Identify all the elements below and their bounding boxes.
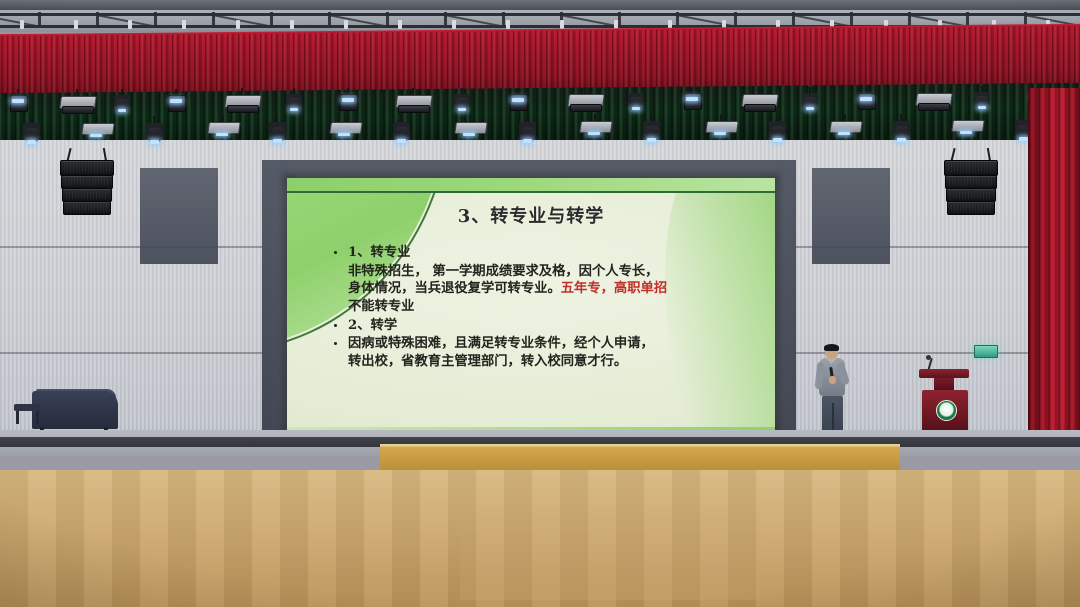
ceiling-slab <box>0 0 1080 10</box>
slide-text: 不能转专业 <box>348 299 414 314</box>
slide-bullet-line: 身体情况，当兵退役复学可转专业。五年专，高职单招 <box>348 280 757 298</box>
projection-screen: 3、转专业与转学 1、转专业非特殊招生， 第一学期成绩要求及格，因个人专长，身体… <box>287 178 775 436</box>
slide-text: 转出校，省教育主管理部门，转入校同意才行。 <box>348 354 627 369</box>
slide-content: 3、转专业与转学 1、转专业非特殊招生， 第一学期成绩要求及格，因个人专长，身体… <box>287 178 775 436</box>
slide-bullet-line: 不能转专业 <box>348 298 757 316</box>
slide-bullet-line: 1、转专业 <box>348 244 757 262</box>
line-array-loudspeaker-right <box>944 160 1002 222</box>
slide-text: 2、转学 <box>348 318 397 333</box>
line-array-loudspeaker-left <box>60 160 118 222</box>
slide-text: 非特殊招生， 第一学期成绩要求及格，因个人专长， <box>348 264 658 279</box>
side-red-curtain <box>1028 88 1080 448</box>
slide-text: 1、转专业 <box>348 245 410 260</box>
slide-bullet-list: 1、转专业非特殊招生， 第一学期成绩要求及格，因个人专长，身体情况，当兵退役复学… <box>331 244 757 372</box>
presenter-hand <box>829 376 836 384</box>
podium-microphone-head <box>926 355 931 360</box>
emergency-exit-sign <box>974 345 998 358</box>
slide-bullet-line: 转出校，省教育主管理部门，转入校同意才行。 <box>348 353 757 371</box>
slide-bullet: 2、转学 <box>331 317 757 335</box>
slide-title: 3、转专业与转学 <box>287 202 775 228</box>
wall-panel-right <box>812 168 890 264</box>
slide-text: 因病或特殊困难，且满足转专业条件，经个人申请， <box>348 336 654 351</box>
slide-bullet: 非特殊招生， 第一学期成绩要求及格，因个人专长，身体情况，当兵退役复学可转专业。… <box>331 263 757 316</box>
slide-text: 身体情况，当兵退役复学可转专业。 <box>348 281 561 296</box>
lectern-neck <box>934 378 954 390</box>
wall-panel-left <box>140 168 218 264</box>
slide-text-highlight: 五年专，高职单招 <box>561 281 667 296</box>
slide-bullet: 1、转专业 <box>331 244 757 262</box>
auditorium-scene: 3、转专业与转学 1、转专业非特殊招生， 第一学期成绩要求及格，因个人专长，身体… <box>0 0 1080 607</box>
presenter-hair <box>824 344 839 351</box>
slide-bullet-line: 2、转学 <box>348 317 757 335</box>
lectern-top <box>919 369 969 378</box>
slide-bullet: 因病或特殊困难，且满足转专业条件，经个人申请，转出校，省教育主管理部门，转入校同… <box>331 335 757 370</box>
seated-student-audience <box>0 408 1080 607</box>
slide-bullet-line: 非特殊招生， 第一学期成绩要求及格，因个人专长， <box>348 263 757 281</box>
slide-bullet-line: 因病或特殊困难，且满足转专业条件，经个人申请， <box>348 335 757 353</box>
